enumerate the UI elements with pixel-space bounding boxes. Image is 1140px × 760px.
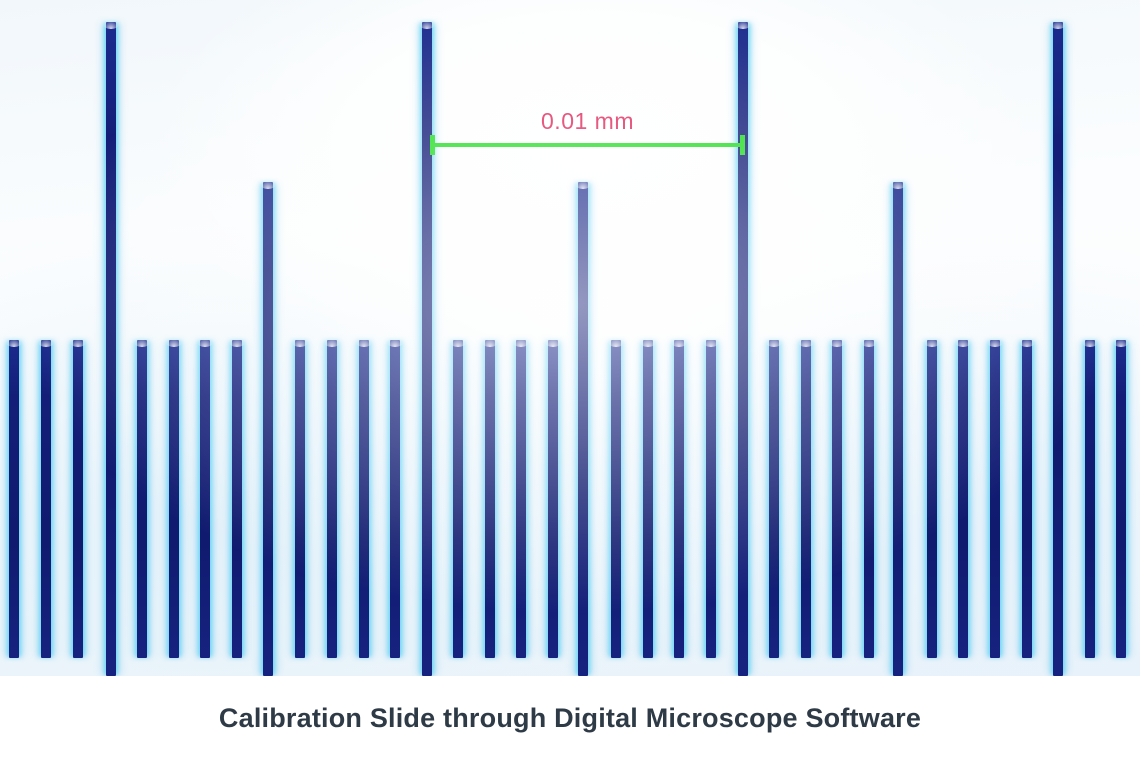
ruler-tick-major: [738, 22, 748, 676]
tick-core: [200, 340, 210, 658]
tick-core: [359, 340, 369, 658]
tick-tip-glow: [798, 338, 814, 347]
tick-core: [485, 340, 495, 658]
tick-tip-glow: [324, 338, 340, 347]
ruler-tick-minor: [832, 340, 842, 658]
tick-tip-glow: [545, 338, 561, 347]
ruler-tick-minor: [769, 340, 779, 658]
tick-core: [263, 182, 273, 676]
ruler-tick-minor: [990, 340, 1000, 658]
tick-tip-glow: [419, 20, 435, 29]
ruler-tick-minor: [643, 340, 653, 658]
tick-core: [738, 22, 748, 676]
ruler-tick-minor: [864, 340, 874, 658]
tick-tip-glow: [766, 338, 782, 347]
tick-tip-glow: [1082, 338, 1098, 347]
ruler-tick-minor: [674, 340, 684, 658]
ruler-tick-minor: [958, 340, 968, 658]
tick-tip-glow: [260, 180, 276, 189]
tick-core: [1085, 340, 1095, 658]
tick-tip-glow: [1050, 20, 1066, 29]
tick-core: [422, 22, 432, 676]
tick-core: [137, 340, 147, 658]
tick-core: [516, 340, 526, 658]
measurement-cap-right: [740, 135, 745, 155]
tick-core: [9, 340, 19, 658]
tick-tip-glow: [861, 338, 877, 347]
tick-tip-glow: [6, 338, 22, 347]
ruler-tick-medium: [263, 182, 273, 676]
ruler-tick-medium: [893, 182, 903, 676]
ruler-tick-minor: [706, 340, 716, 658]
tick-core: [893, 182, 903, 676]
tick-core: [169, 340, 179, 658]
ruler-tick-minor: [927, 340, 937, 658]
ruler-tick-minor: [548, 340, 558, 658]
ruler-tick-minor: [390, 340, 400, 658]
tick-core: [990, 340, 1000, 658]
tick-tip-glow: [229, 338, 245, 347]
tick-tip-glow: [356, 338, 372, 347]
ruler-tick-minor: [200, 340, 210, 658]
ruler-tick-minor: [453, 340, 463, 658]
tick-tip-glow: [387, 338, 403, 347]
tick-core: [706, 340, 716, 658]
tick-tip-glow: [987, 338, 1003, 347]
tick-tip-glow: [1113, 338, 1129, 347]
ruler-tick-minor: [137, 340, 147, 658]
tick-core: [1116, 340, 1126, 658]
ruler-tick-minor: [516, 340, 526, 658]
tick-tip-glow: [38, 338, 54, 347]
ruler-tick-minor: [232, 340, 242, 658]
tick-tip-glow: [640, 338, 656, 347]
ruler-tick-minor: [327, 340, 337, 658]
measurement-line: [430, 143, 745, 147]
tick-core: [578, 182, 588, 676]
tick-core: [453, 340, 463, 658]
ruler-tick-minor: [801, 340, 811, 658]
ruler-tick-minor: [9, 340, 19, 658]
tick-tip-glow: [70, 338, 86, 347]
tick-core: [611, 340, 621, 658]
tick-tip-glow: [575, 180, 591, 189]
ruler-tick-minor: [1085, 340, 1095, 658]
measurement-label: 0.01 mm: [541, 108, 634, 135]
tick-core: [927, 340, 937, 658]
ruler-tick-minor: [169, 340, 179, 658]
tick-core: [769, 340, 779, 658]
tick-tip-glow: [890, 180, 906, 189]
tick-core: [73, 340, 83, 658]
tick-tip-glow: [735, 20, 751, 29]
caption-band: Calibration Slide through Digital Micros…: [0, 676, 1140, 760]
tick-tip-glow: [134, 338, 150, 347]
tick-tip-glow: [292, 338, 308, 347]
tick-tip-glow: [924, 338, 940, 347]
tick-tip-glow: [197, 338, 213, 347]
figure-caption: Calibration Slide through Digital Micros…: [219, 703, 921, 734]
tick-core: [106, 22, 116, 676]
tick-tip-glow: [829, 338, 845, 347]
tick-tip-glow: [1019, 338, 1035, 347]
figure-container: 0.01 mm Calibration Slide through Digita…: [0, 0, 1140, 760]
tick-core: [232, 340, 242, 658]
tick-tip-glow: [955, 338, 971, 347]
tick-core: [674, 340, 684, 658]
ruler-tick-major: [106, 22, 116, 676]
ruler-tick-minor: [41, 340, 51, 658]
ruler-tick-minor: [485, 340, 495, 658]
tick-core: [548, 340, 558, 658]
micrograph-image: 0.01 mm: [0, 0, 1140, 676]
tick-core: [327, 340, 337, 658]
ruler-tick-major: [422, 22, 432, 676]
tick-core: [1053, 22, 1063, 676]
tick-tip-glow: [671, 338, 687, 347]
tick-tip-glow: [450, 338, 466, 347]
tick-core: [958, 340, 968, 658]
ruler-tick-minor: [611, 340, 621, 658]
ruler-tick-medium: [578, 182, 588, 676]
tick-tip-glow: [482, 338, 498, 347]
tick-core: [1022, 340, 1032, 658]
tick-core: [864, 340, 874, 658]
tick-tip-glow: [513, 338, 529, 347]
tick-core: [832, 340, 842, 658]
tick-tip-glow: [103, 20, 119, 29]
tick-core: [643, 340, 653, 658]
measurement-cap-left: [430, 135, 435, 155]
tick-core: [295, 340, 305, 658]
ruler-tick-minor: [359, 340, 369, 658]
ruler-tick-minor: [1116, 340, 1126, 658]
ruler-tick-major: [1053, 22, 1063, 676]
tick-tip-glow: [608, 338, 624, 347]
tick-core: [801, 340, 811, 658]
tick-core: [41, 340, 51, 658]
ruler-tick-minor: [1022, 340, 1032, 658]
tick-tip-glow: [166, 338, 182, 347]
tick-core: [390, 340, 400, 658]
ruler-tick-minor: [73, 340, 83, 658]
tick-tip-glow: [703, 338, 719, 347]
ruler-tick-minor: [295, 340, 305, 658]
